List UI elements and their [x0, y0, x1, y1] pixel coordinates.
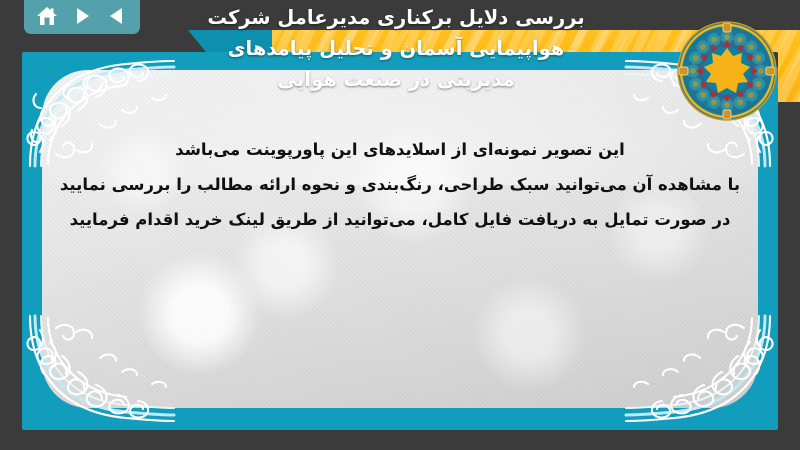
body-line-1: این تصویر نمونه‌ای از اسلایدهای این پاور…	[40, 132, 760, 167]
slide-content-panel	[42, 70, 758, 408]
triangle-right-icon	[72, 6, 92, 26]
body-line-3: در صورت تمایل به دریافت فایل کامل، می‌تو…	[40, 202, 760, 237]
triangle-left-icon	[107, 6, 127, 26]
home-icon	[36, 6, 58, 26]
slide-title: بررسی دلایل برکناری مدیرعامل شرکت هواپیم…	[96, 2, 696, 95]
slide-viewer-stage: این تصویر نمونه‌ای از اسلایدهای این پاور…	[0, 0, 800, 450]
body-line-2: با مشاهده آن می‌توانید سبک طراحی، رنگ‌بن…	[40, 167, 760, 202]
slide-frame	[22, 52, 778, 430]
previous-slide-button[interactable]	[103, 3, 131, 29]
slide-body-text: این تصویر نمونه‌ای از اسلایدهای این پاور…	[40, 132, 760, 237]
next-slide-button[interactable]	[68, 3, 96, 29]
slide-navigation-toolbar	[24, 0, 140, 34]
home-button[interactable]	[33, 3, 61, 29]
mandala-medallion	[676, 20, 778, 122]
